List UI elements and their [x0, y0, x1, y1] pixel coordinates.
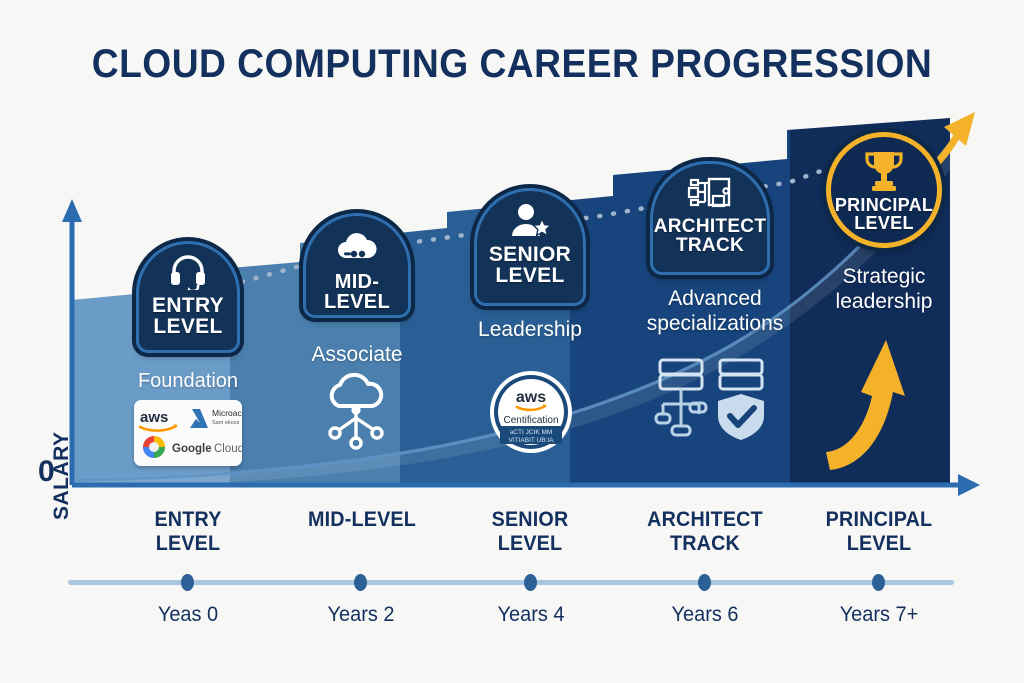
caption-associate: Associate: [277, 343, 437, 368]
timeline-track: [68, 580, 954, 585]
xlabel-senior-level: SENIOR LEVEL: [459, 508, 602, 556]
badge-architect-track-line1: ARCHITECT: [654, 217, 766, 236]
azure-logo-label: Microach: [212, 408, 242, 418]
badge-entry-level[interactable]: ENTRY LEVEL: [136, 241, 240, 353]
google-cloud-logo-label: Google: [172, 443, 212, 455]
blueprint-icon: [685, 176, 735, 212]
y-axis-label-wrap: SALARY: [28, 200, 56, 350]
caption-architect: Advanced specializations: [625, 287, 805, 337]
caption-principal-line1: Strategic: [798, 265, 970, 290]
server-rack-icon: [656, 360, 706, 435]
svg-text:Cloud: Cloud: [214, 443, 242, 455]
shield-check-icon: [718, 360, 764, 440]
xlabel-entry-level-line1: ENTRY: [117, 508, 260, 532]
timeline-dot-principal[interactable]: [872, 574, 885, 591]
caption-architect-line1: Advanced: [625, 287, 805, 312]
xlabel-mid-level-line1: MID-LEVEL: [291, 508, 434, 532]
xlabel-entry-level: ENTRY LEVEL: [117, 508, 260, 556]
timeline-dot-architect[interactable]: [698, 574, 711, 591]
caption-architect-line2: specializations: [625, 312, 805, 337]
xlabel-architect-track-line1: ARCHITECT: [634, 508, 777, 532]
xlabel-senior-level-line2: LEVEL: [459, 532, 602, 556]
badge-architect-track-line2: TRACK: [676, 236, 744, 255]
timeline-dot-mid[interactable]: [354, 574, 367, 591]
badge-entry-level-line2: LEVEL: [153, 316, 222, 337]
xlabel-principal-level-line2: LEVEL: [808, 532, 951, 556]
xlabel-architect-track-line2: TRACK: [634, 532, 777, 556]
timeline-label-senior: Years 4: [459, 603, 603, 627]
timeline-label-principal: Years 7+: [807, 603, 951, 627]
cloud-icon: [334, 230, 380, 264]
xlabel-mid-level: MID-LEVEL: [291, 508, 434, 532]
aws-cert-brand: aws: [516, 389, 546, 406]
badge-principal-level-line2: LEVEL: [854, 214, 914, 232]
timeline-label-architect: Years 6: [633, 603, 777, 627]
badge-architect-track[interactable]: ARCHITECT TRACK: [650, 161, 770, 275]
badge-senior-level-line2: LEVEL: [495, 265, 564, 286]
aws-logo-icon: aws: [140, 409, 178, 431]
aws-cert-subline1: aCTI JCIK MM: [510, 429, 553, 436]
xlabel-architect-track: ARCHITECT TRACK: [634, 508, 777, 556]
badge-mid-level[interactable]: MID-LEVEL: [303, 213, 411, 318]
cloud-provider-logos-card: aws Microach Sam ekces Google Cloud: [134, 400, 242, 466]
xlabel-principal-level-line1: PRINCIPAL: [808, 508, 951, 532]
caption-foundation: Foundation: [108, 370, 268, 394]
timeline-dot-senior[interactable]: [524, 574, 537, 591]
badge-principal-level[interactable]: PRINCIPAL LEVEL: [826, 132, 942, 248]
badge-senior-level[interactable]: SENIOR LEVEL: [474, 188, 586, 306]
azure-logo-sublabel: Sam ekces: [212, 420, 239, 426]
xlabel-senior-level-line1: SENIOR: [459, 508, 602, 532]
timeline-dot-entry[interactable]: [181, 574, 194, 591]
badge-entry-level-line1: ENTRY: [152, 295, 224, 316]
badge-principal-level-line1: PRINCIPAL: [835, 196, 933, 214]
badge-mid-level-line1: MID-LEVEL: [306, 272, 408, 313]
google-cloud-logo-icon: [143, 436, 165, 458]
trophy-icon: [861, 149, 907, 193]
azure-logo-icon: [190, 409, 208, 428]
aws-certification-badge: aws Centification aCTI JCIK MM VITIABIT …: [488, 368, 574, 456]
caption-principal-line2: leadership: [798, 290, 970, 315]
cloud-network-icon: [317, 372, 399, 450]
timeline-label-entry: Yeas 0: [116, 603, 260, 627]
caption-principal: Strategic leadership: [798, 265, 970, 315]
xlabel-entry-level-line2: LEVEL: [117, 532, 260, 556]
svg-text:aws: aws: [140, 409, 168, 426]
aws-cert-label: Centification: [503, 415, 558, 426]
badge-senior-level-line1: SENIOR: [489, 244, 571, 265]
headset-icon: [168, 254, 208, 290]
server-shield-icons: [652, 356, 772, 446]
infographic-canvas: CLOUD COMPUTING CAREER PROGRESSION: [0, 0, 1024, 683]
xlabel-principal-level: PRINCIPAL LEVEL: [808, 508, 951, 556]
timeline-label-mid: Years 2: [289, 603, 433, 627]
y-axis-zero-label: 0: [38, 455, 55, 489]
aws-cert-subline2: VITIABIT UB:IA: [508, 437, 554, 444]
caption-leadership: Leadership: [450, 318, 610, 343]
person-star-icon: [507, 203, 553, 239]
